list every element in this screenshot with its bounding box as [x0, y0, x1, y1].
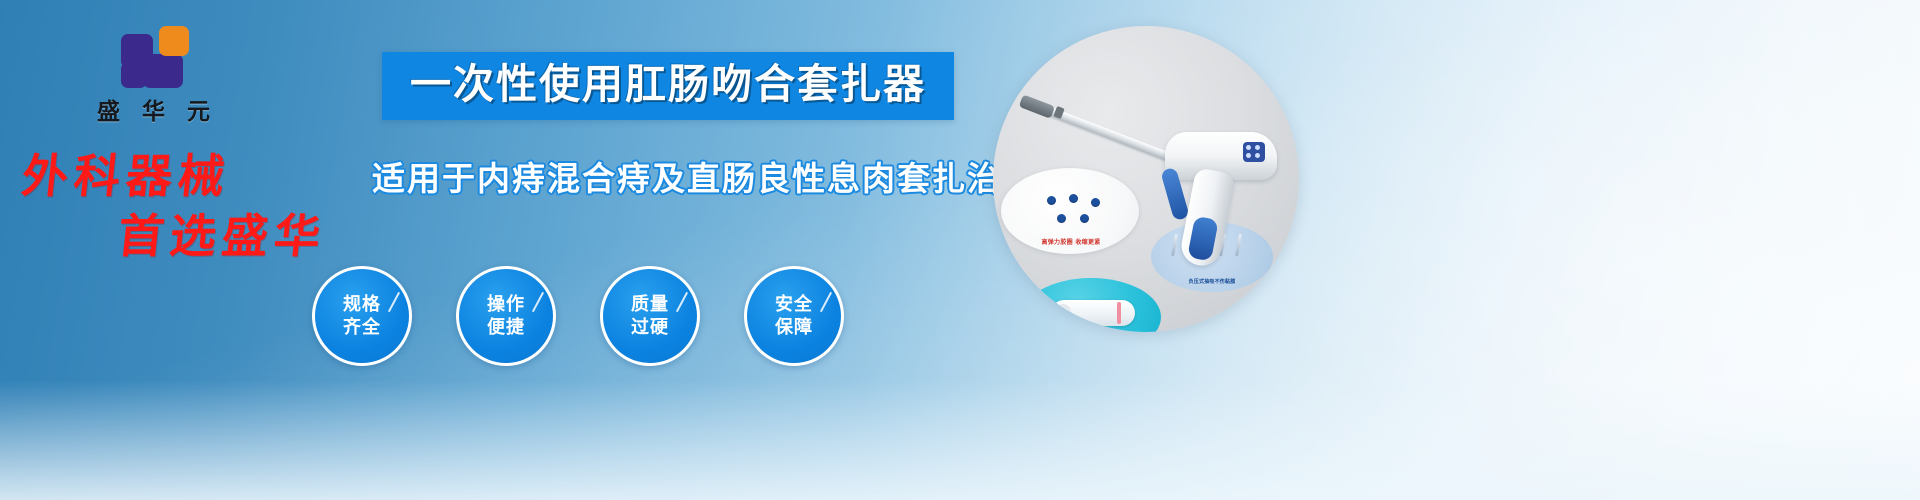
feature-label-line2: 过硬	[631, 316, 669, 339]
tube-inset-photo	[1021, 278, 1161, 332]
slash-decor-icon	[820, 292, 832, 312]
device-button-pad-icon	[1243, 142, 1265, 162]
title-plate: 一次性使用肛肠吻合套扎器	[382, 52, 954, 120]
slogan-line-1: 外科器械	[19, 148, 365, 204]
feature-badge[interactable]: 质量 过硬	[600, 266, 700, 366]
feature-label-line2: 齐全	[343, 316, 381, 339]
brand-name: 盛 华 元	[62, 92, 252, 126]
ligator-device-illustration	[1015, 84, 1285, 284]
calligraphy-slogan: 外科器械 首选盛华	[22, 148, 362, 264]
feature-badge-list: 规格 齐全 操作 便捷 质量 过硬 安全 保障	[312, 266, 844, 366]
brand-logo[interactable]: 盛 华 元	[62, 26, 252, 126]
bottom-fade-overlay	[0, 380, 1920, 500]
feature-label-line2: 保障	[775, 316, 813, 339]
device-grip	[1178, 167, 1236, 269]
page-title: 一次性使用肛肠吻合套扎器	[410, 61, 926, 107]
feature-badge[interactable]: 操作 便捷	[456, 266, 556, 366]
promo-banner: 盛 华 元 外科器械 首选盛华 一次性使用肛肠吻合套扎器 适用于内痔混合痔及直肠…	[0, 0, 1920, 500]
logo-mark-icon	[121, 26, 193, 88]
feature-label-line1: 规格	[343, 293, 381, 316]
device-grip-accent	[1187, 216, 1219, 262]
feature-badge[interactable]: 安全 保障	[744, 266, 844, 366]
slogan-line-2: 首选盛华	[115, 208, 365, 264]
feature-label-line1: 质量	[631, 293, 669, 316]
slash-decor-icon	[532, 292, 544, 312]
anoscope-tube-icon	[1051, 300, 1135, 326]
feature-label-line1: 安全	[775, 293, 813, 316]
product-photo: 高弹力胶圈 收缩更紧 负压式抽吸不伤黏膜	[993, 26, 1299, 332]
device-tip	[1019, 94, 1055, 118]
subtitle: 适用于内痔混合痔及直肠良性息肉套扎治疗	[372, 158, 1037, 200]
feature-label-line1: 操作	[487, 293, 525, 316]
slash-decor-icon	[388, 292, 400, 312]
slash-decor-icon	[676, 292, 688, 312]
feature-badge[interactable]: 规格 齐全	[312, 266, 412, 366]
feature-label-line2: 便捷	[487, 316, 525, 339]
